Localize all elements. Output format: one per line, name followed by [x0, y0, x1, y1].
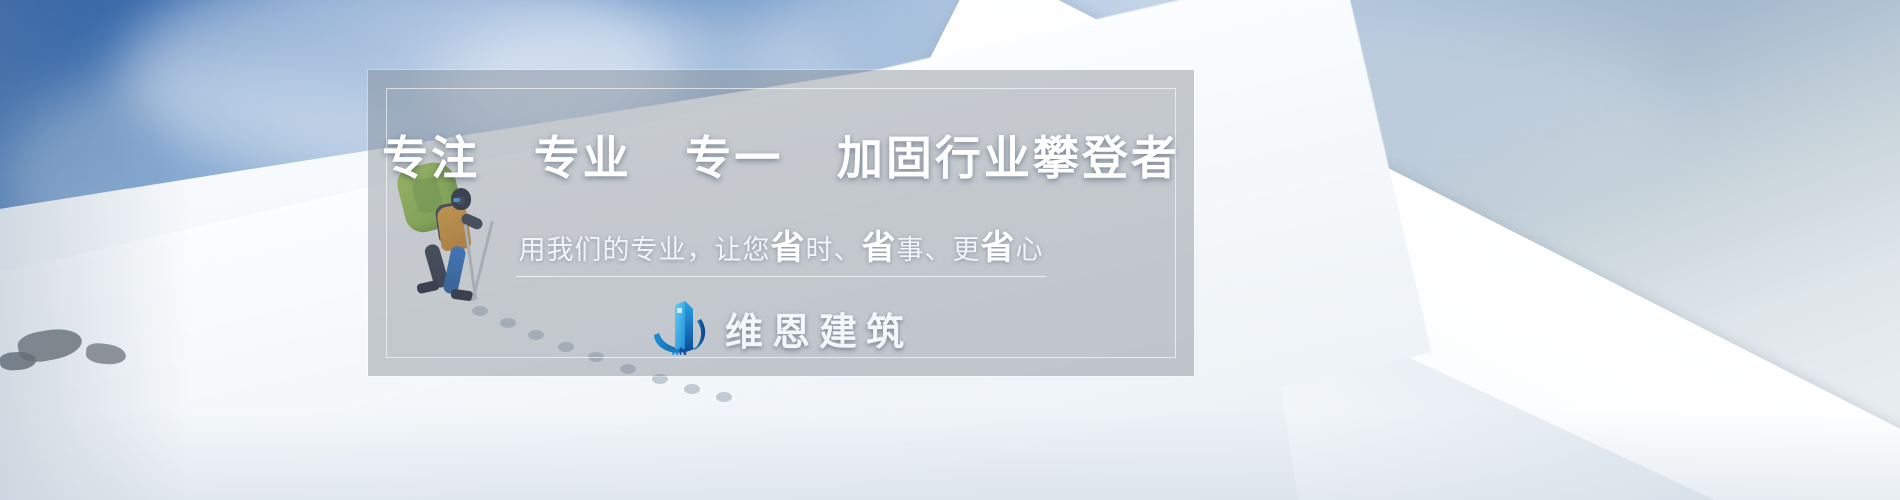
svg-text:W: W — [671, 347, 680, 357]
banner-headline: 专注 专业 专一 加固行业攀登者 — [368, 122, 1194, 188]
brand-name: 维恩建筑 — [725, 301, 913, 356]
wn-building-logo-icon: N W — [649, 299, 711, 357]
brand-row: N W 维恩建筑 — [368, 292, 1194, 364]
subtitle-lead: 用我们的专业，让您 — [519, 235, 771, 265]
banner-subtitle: 用我们的专业，让您省时、省事、更省心 — [368, 220, 1194, 269]
hero-banner: 专注 专业 专一 加固行业攀登者 用我们的专业，让您省时、省事、更省心 — [0, 0, 1900, 500]
headline-part-3: 专一 — [685, 132, 783, 184]
svg-text:N: N — [679, 346, 687, 357]
subtitle-text-3: 心 — [1016, 235, 1044, 265]
banner-content: 专注 专业 专一 加固行业攀登者 用我们的专业，让您省时、省事、更省心 — [368, 70, 1194, 376]
subtitle-emphasis-3: 省 — [981, 229, 1016, 267]
subtitle-text-2: 事、更 — [897, 235, 981, 265]
headline-part-4: 加固行业攀登者 — [837, 132, 1180, 184]
subtitle-emphasis-2: 省 — [862, 229, 897, 267]
bottom-edge-vignette — [0, 410, 1900, 500]
horizontal-divider — [516, 276, 1046, 277]
headline-part-2: 专业 — [534, 132, 632, 184]
headline-part-1: 专注 — [382, 132, 480, 184]
subtitle-text-1: 时、 — [806, 235, 862, 265]
subtitle-emphasis-1: 省 — [771, 229, 806, 267]
